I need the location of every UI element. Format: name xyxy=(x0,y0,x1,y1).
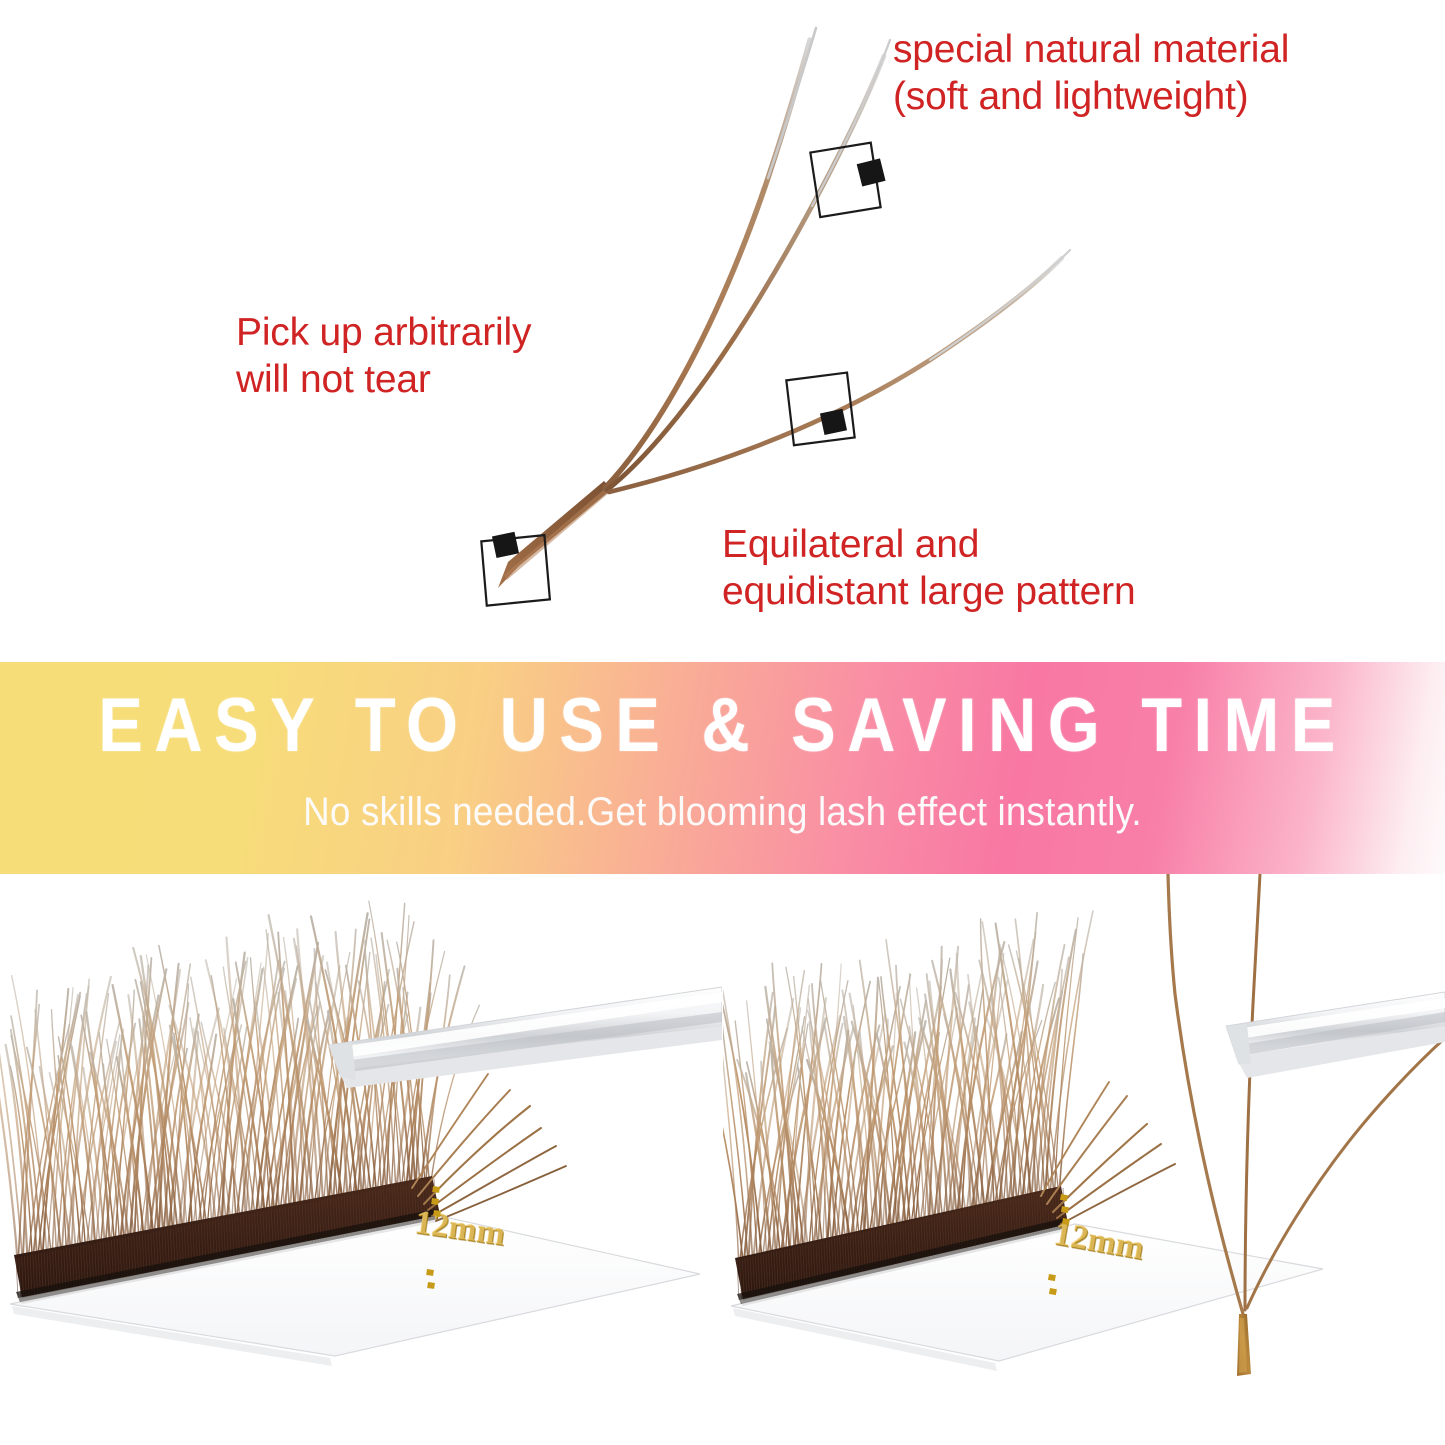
callout-material-line2: (soft and lightweight) xyxy=(893,75,1248,118)
banner-headline: EASY TO USE & SAVING TIME xyxy=(87,682,1359,769)
callout-equilateral-equidistant: Equilateral and equidistant large patter… xyxy=(722,522,1135,616)
photo-lash-tray-with-tweezers: 12mm 12mm 12mm xyxy=(0,874,722,1445)
easy-to-use-banner: EASY TO USE & SAVING TIME No skills need… xyxy=(0,662,1445,874)
callout-pick-up-arbitrarily: Pick up arbitrarily will not tear xyxy=(236,310,531,404)
callout-equilateral-line1: Equilateral and xyxy=(722,523,979,566)
zoom-box-middle-marker xyxy=(820,409,847,435)
tweezers xyxy=(1226,992,1445,1078)
fan-base-stem xyxy=(498,481,612,588)
callout-equilateral-line2: equidistant large pattern xyxy=(722,570,1135,613)
banner-subtitle: No skills needed.Get blooming lash effec… xyxy=(58,790,1387,835)
zoom-box-base-marker xyxy=(492,532,519,558)
hero-section: special natural material (soft and light… xyxy=(0,0,1445,662)
callout-pickup-line1: Pick up arbitrarily xyxy=(236,311,531,354)
photo-lash-fan-lifted-by-tweezers: 12mm 12mm 12mm xyxy=(723,874,1445,1445)
callout-special-natural-material: special natural material (soft and light… xyxy=(893,27,1289,121)
product-photo-row: 12mm 12mm 12mm xyxy=(0,874,1445,1445)
tweezers xyxy=(329,987,722,1088)
zoom-box-middle xyxy=(780,368,860,450)
zoom-box-upper-marker xyxy=(857,158,886,186)
callout-pickup-line2: will not tear xyxy=(236,358,431,401)
loose-lash-hairs xyxy=(1041,1082,1175,1224)
callout-material-line1: special natural material xyxy=(893,28,1289,71)
